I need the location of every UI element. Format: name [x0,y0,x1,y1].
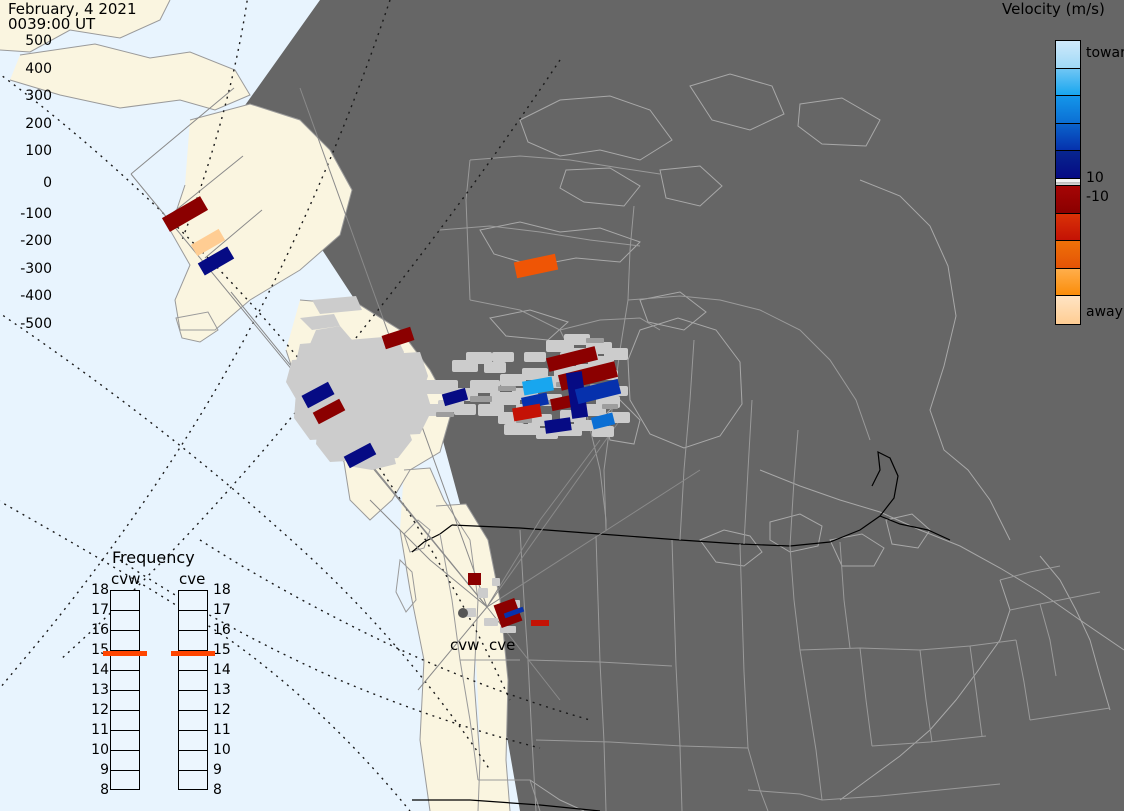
frequency-cell [111,671,139,691]
colorbar-tick-label: -100 [20,206,52,222]
colorbar-toward-label: toward [1086,45,1124,61]
frequency-tick-label: 11 [213,722,231,738]
frequency-cell [111,591,139,611]
colorbar-away-label: away [1086,304,1123,320]
colorbar-band [1056,41,1080,69]
colorbar-tick-label: 500 [25,33,52,49]
colorbar-tick-label: -500 [20,316,52,332]
frequency-cell [111,691,139,711]
frequency-tick-label: 16 [213,622,231,638]
frequency-tick-label: 10 [213,742,231,758]
colorbar-tick-label: 400 [25,61,52,77]
colorbar-tick-label: 100 [25,143,52,159]
frequency-marker-cvw [103,651,147,656]
frequency-panel: Frequency cvw cve 18171615141312111098 1… [95,548,245,793]
station-label-cvw: cvw [450,636,479,654]
frequency-bar-label-cve: cve [179,570,205,588]
frequency-tick-label: 17 [213,602,231,618]
frequency-marker-cve [171,651,215,656]
frequency-cell [179,751,207,771]
frequency-cell [179,691,207,711]
frequency-cell [179,611,207,631]
frequency-tick-label: 8 [213,782,222,798]
colorbar-tick-label: 300 [25,88,52,104]
frequency-tick-label: 18 [91,582,109,598]
station-label-cve: cve [489,636,515,654]
colorbar-tick-label: 200 [25,116,52,132]
colorbar-band [1056,296,1080,324]
map-time-label: 0039:00 UT [8,17,95,33]
frequency-tick-label: 18 [213,582,231,598]
frequency-tick-label: 10 [91,742,109,758]
colorbar-tick-label: -200 [20,233,52,249]
frequency-cell [111,771,139,791]
colorbar-band [1056,124,1080,152]
frequency-cell [111,611,139,631]
frequency-bar-cvw[interactable] [110,590,140,790]
frequency-tick-label: 12 [213,702,231,718]
frequency-tick-label: 9 [213,762,222,778]
frequency-tick-label: 8 [100,782,109,798]
frequency-tick-label: 16 [91,622,109,638]
velocity-cell [531,620,549,626]
velocity-colorbar[interactable] [1055,40,1081,325]
velocity-colorbar-title: Velocity (m/s) [1002,2,1105,18]
colorbar-tick-label: -400 [20,288,52,304]
frequency-bar-label-cvw: cvw [111,570,140,588]
frequency-cell [179,591,207,611]
frequency-cell [179,711,207,731]
colorbar-band [1056,214,1080,242]
frequency-tick-label: 12 [91,702,109,718]
colorbar-minus10-label: -10 [1086,189,1109,205]
colorbar-tick-label: 0 [43,175,52,191]
frequency-cell [179,671,207,691]
colorbar-band [1056,241,1080,269]
frequency-tick-label: 17 [91,602,109,618]
radar-map-screenshot: February, 4 2021 0039:00 UT Velocity (m/… [0,0,1124,811]
colorbar-plus10-label: 10 [1086,170,1104,186]
colorbar-band [1056,179,1080,186]
frequency-tick-label: 14 [91,662,109,678]
frequency-cell [179,771,207,791]
frequency-cell [111,711,139,731]
frequency-tick-label: 13 [213,682,231,698]
frequency-tick-label: 14 [213,662,231,678]
frequency-tick-label: 13 [91,682,109,698]
frequency-panel-title: Frequency [112,548,195,567]
frequency-tick-label: 11 [91,722,109,738]
frequency-cell [111,731,139,751]
colorbar-band [1056,269,1080,297]
colorbar-band [1056,96,1080,124]
frequency-cell [179,731,207,751]
frequency-tick-label: 9 [100,762,109,778]
radar-site-dot [458,608,468,618]
frequency-cell [111,631,139,651]
colorbar-band [1056,186,1080,214]
velocity-cell [468,573,481,585]
colorbar-band [1056,151,1080,179]
frequency-cell [111,751,139,771]
colorbar-tick-label: -300 [20,261,52,277]
frequency-bar-cve[interactable] [178,590,208,790]
frequency-cell [179,631,207,651]
frequency-tick-label: 15 [213,642,231,658]
colorbar-band [1056,69,1080,97]
